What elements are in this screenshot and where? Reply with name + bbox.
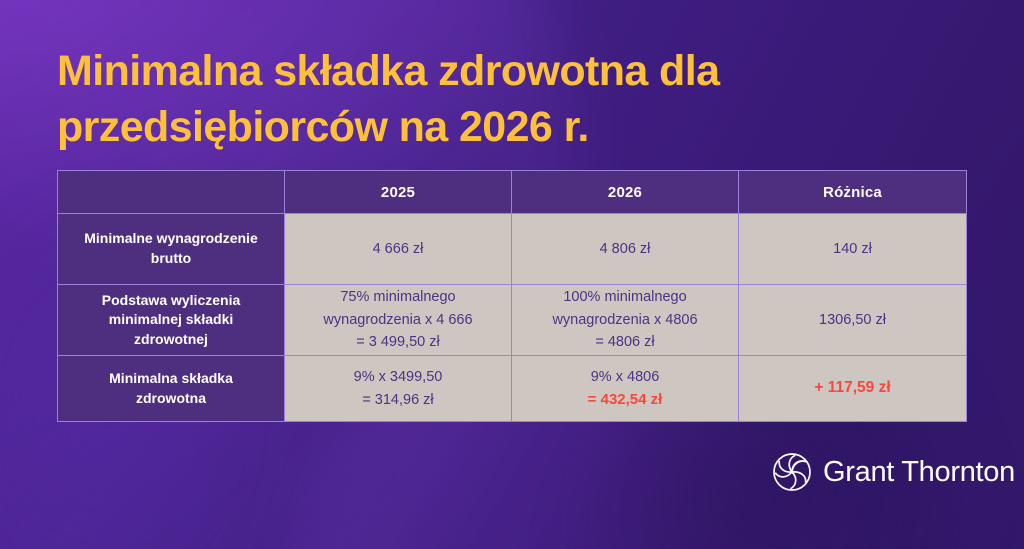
table-row: Minimalne wynagrodzenie brutto 4 666 zł … (58, 214, 967, 285)
table-header-2025: 2025 (285, 171, 512, 214)
grant-thornton-swirl-icon (772, 452, 812, 492)
cell-health-contribution-2026-formula: 9% x 4806 (591, 369, 660, 385)
cell-minimum-wage-2026: 4 806 zł (512, 214, 739, 285)
comparison-table: 2025 2026 Różnica Minimalne wynagrodzeni… (57, 170, 967, 422)
cell-contribution-base-2025: 75% minimalnego wynagrodzenia x 4 666 = … (285, 285, 512, 356)
cell-health-contribution-2026: 9% x 4806= 432,54 zł (512, 356, 739, 422)
table-header-row: 2025 2026 Różnica (58, 171, 967, 214)
row-label-health-contribution: Minimalna składka zdrowotna (58, 356, 285, 422)
row-label-minimum-wage: Minimalne wynagrodzenie brutto (58, 214, 285, 285)
cell-minimum-wage-2025: 4 666 zł (285, 214, 512, 285)
table-header-2026: 2026 (512, 171, 739, 214)
cell-health-contribution-2025: 9% x 3499,50 = 314,96 zł (285, 356, 512, 422)
grant-thornton-logo: Grant Thornton (772, 452, 1015, 492)
cell-health-contribution-difference: + 117,59 zł (739, 356, 967, 422)
table-row: Minimalna składka zdrowotna 9% x 3499,50… (58, 356, 967, 422)
cell-minimum-wage-difference: 140 zł (739, 214, 967, 285)
row-label-contribution-base: Podstawa wyliczenia minimalnej składki z… (58, 285, 285, 356)
infographic-canvas: Minimalna składka zdrowotna dla przedsię… (0, 0, 1024, 549)
logo-text: Grant Thornton (823, 456, 1015, 489)
table-header-blank (58, 171, 285, 214)
table-row: Podstawa wyliczenia minimalnej składki z… (58, 285, 967, 356)
table-header-difference: Różnica (739, 171, 967, 214)
cell-health-contribution-2026-result: = 432,54 zł (588, 391, 663, 408)
cell-contribution-base-2026: 100% minimalnego wynagrodzenia x 4806 = … (512, 285, 739, 356)
page-title: Minimalna składka zdrowotna dla przedsię… (57, 44, 937, 156)
cell-contribution-base-difference: 1306,50 zł (739, 285, 967, 356)
